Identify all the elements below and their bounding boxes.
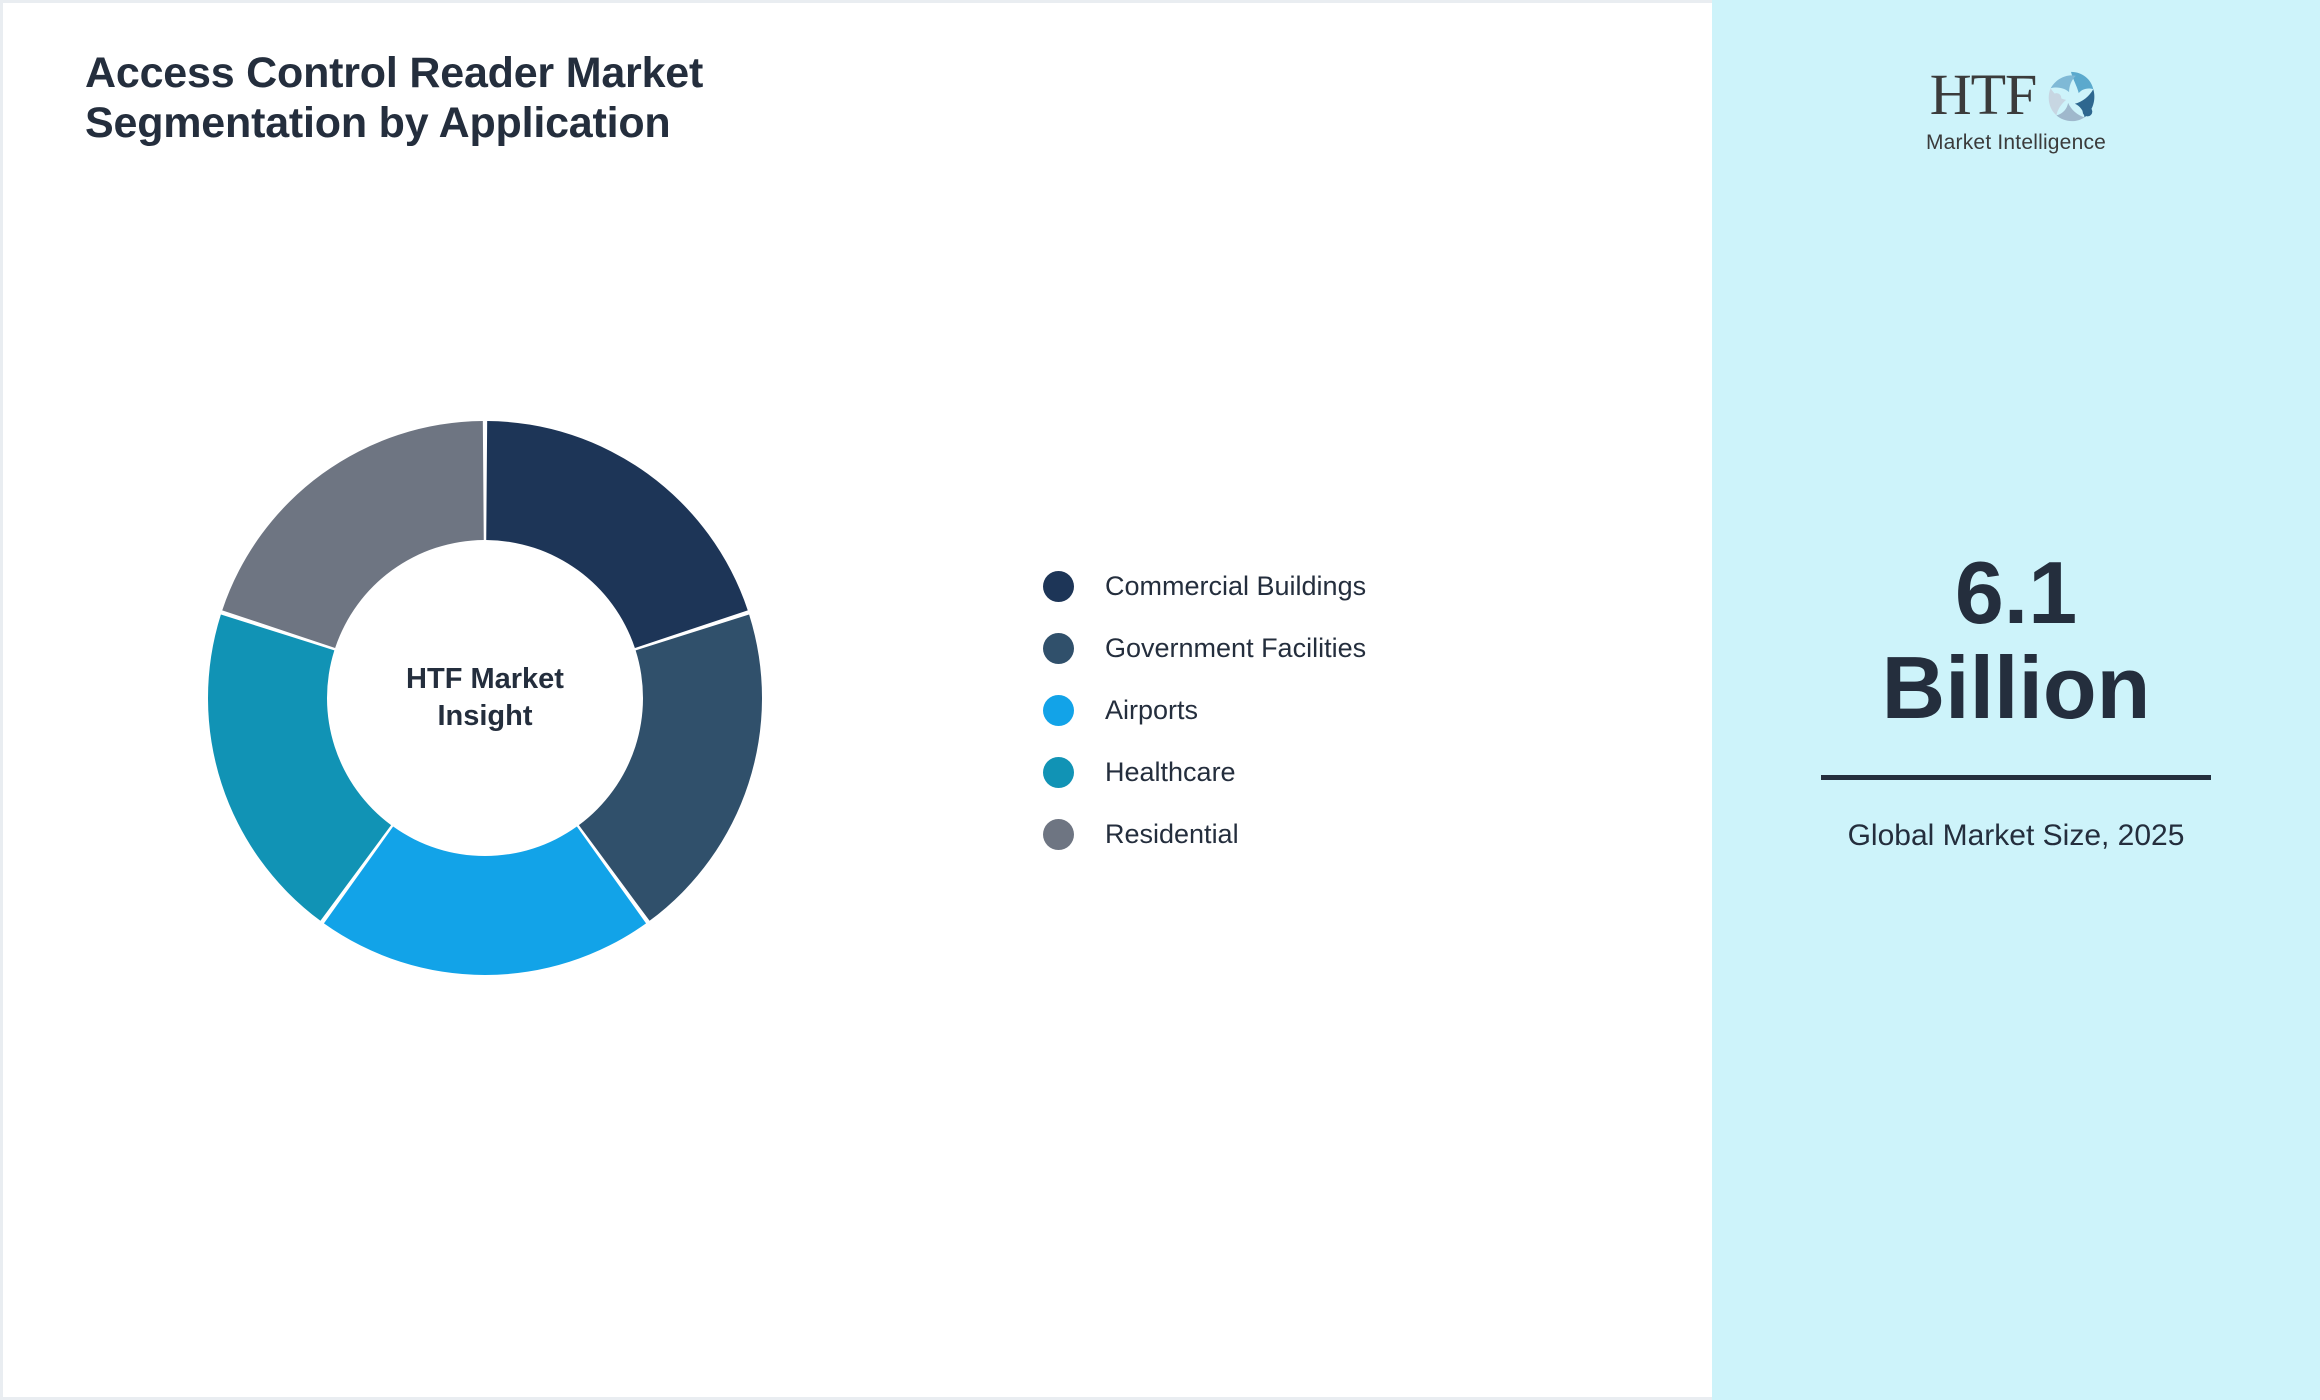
legend-item-label: Residential <box>1105 819 1239 850</box>
infographic-page: Access Control Reader Market Segmentatio… <box>0 0 2320 1400</box>
legend-item-label: Healthcare <box>1105 757 1236 788</box>
legend-item[interactable]: Residential <box>1043 803 1366 865</box>
chart-legend: Commercial BuildingsGovernment Facilitie… <box>1043 555 1366 865</box>
main-panel: Access Control Reader Market Segmentatio… <box>0 0 1712 1400</box>
donut-slice-commercial-buildings[interactable] <box>486 421 748 648</box>
legend-item[interactable]: Airports <box>1043 679 1366 741</box>
circle-swatch-icon <box>1043 633 1074 664</box>
donut-chart-svg <box>208 421 762 975</box>
three-people-circle-icon <box>2040 66 2102 128</box>
brand-logo: HTF Market Intelligence <box>1896 62 2136 155</box>
stat-block: 6.1 Billion Global Market Size, 2025 <box>1786 545 2246 856</box>
brand-logo-subtitle: Market Intelligence <box>1896 131 2136 155</box>
circle-swatch-icon <box>1043 757 1074 788</box>
brand-logo-text: HTF <box>1930 66 2037 124</box>
donut-slice-group <box>208 421 762 975</box>
circle-swatch-icon <box>1043 819 1074 850</box>
legend-item-label: Commercial Buildings <box>1105 571 1366 602</box>
side-panel: HTF Market Intelligence 6.1 Billion Glob… <box>1712 0 2320 1400</box>
legend-item-label: Government Facilities <box>1105 633 1366 664</box>
legend-item[interactable]: Healthcare <box>1043 741 1366 803</box>
brand-logo-row: HTF <box>1896 62 2136 128</box>
legend-item[interactable]: Commercial Buildings <box>1043 555 1366 617</box>
stat-caption: Global Market Size, 2025 <box>1786 816 2246 856</box>
circle-swatch-icon <box>1043 695 1074 726</box>
stat-value: 6.1 Billion <box>1786 545 2246 735</box>
donut-chart: HTF Market Insight <box>208 421 762 975</box>
legend-item[interactable]: Government Facilities <box>1043 617 1366 679</box>
page-title: Access Control Reader Market Segmentatio… <box>85 49 985 149</box>
stat-divider <box>1821 775 2211 780</box>
legend-item-label: Airports <box>1105 695 1198 726</box>
circle-swatch-icon <box>1043 571 1074 602</box>
donut-slice-residential[interactable] <box>222 421 484 648</box>
